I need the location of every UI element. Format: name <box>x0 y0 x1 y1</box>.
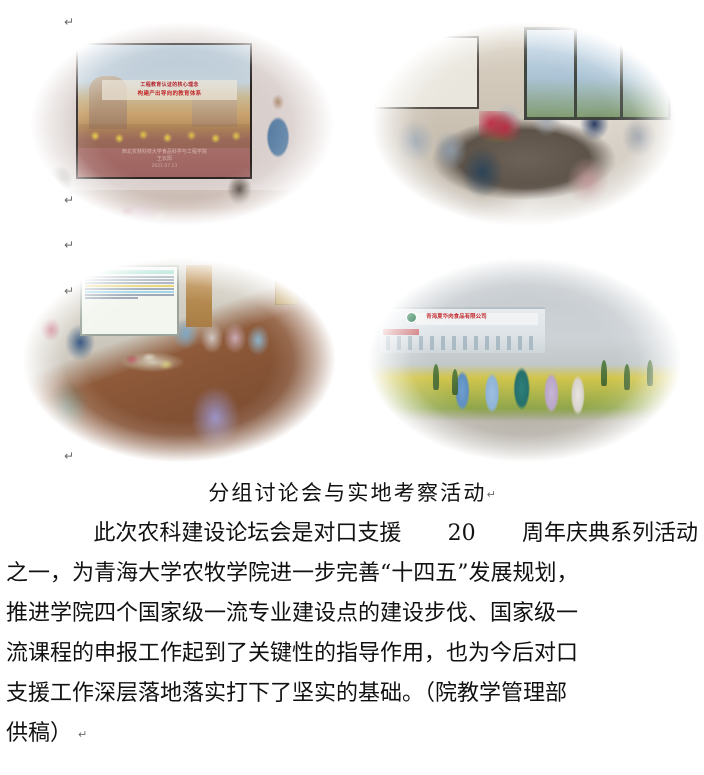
body-paragraph: 此次农科建设论坛会是对口支援20周年庆典系列活动 之一，为青海大学农牧学院进一步… <box>6 514 698 755</box>
slide-flower-field <box>78 124 250 148</box>
slide-banner-line2: 构建产出导向的教育体系 <box>102 90 236 98</box>
factory-windows <box>386 336 538 349</box>
slide-text-line <box>85 279 174 280</box>
first-line-indent <box>6 514 50 554</box>
body-line-6: 供稿）↵ <box>6 714 698 755</box>
projector-slide: 工程教育认证的核心理念 构建产出导向的教育体系 西北农林科技大学食品科学与工程学… <box>78 45 250 177</box>
slide-credit-date: 2021.07.13 <box>78 163 250 170</box>
slide-banner: 工程教育认证的核心理念 构建产出导向的教育体系 <box>102 80 236 100</box>
figure-caption-text: 分组讨论会与实地考察活动 <box>208 481 486 505</box>
figure-caption: 分组讨论会与实地考察活动↵ <box>0 478 704 510</box>
document-page: ↵ ↵ ↵ ↵ ↵ 工程教育认证的核心理念 构建产出导向的教育体系 <box>0 0 704 775</box>
factory-sign-text: 青海夏华肉食品有限公司 <box>416 313 538 325</box>
photo-presentation[interactable]: 工程教育认证的核心理念 构建产出导向的教育体系 西北农林科技大学食品科学与工程学… <box>22 14 342 234</box>
meeting-slide <box>80 265 179 335</box>
tree <box>601 360 607 386</box>
body-line-4: 流课程的申报工作起到了关键性的指导作用，也为今后对口 <box>6 634 698 674</box>
slide-banner-line1: 工程教育认证的核心理念 <box>102 82 236 89</box>
slide-text-line <box>85 276 174 277</box>
door <box>186 265 212 327</box>
table-flowers <box>479 111 521 142</box>
slide-credit-speaker: 王云阳 <box>78 156 250 163</box>
slide-text-line-highlight <box>85 291 174 292</box>
photo-presentation-image: 工程教育认证的核心理念 构建产出导向的教育体系 西北农林科技大学食品科学与工程学… <box>22 14 342 234</box>
paragraph-mark: ↵ <box>487 488 496 501</box>
wall-picture-frame <box>275 279 298 305</box>
photo-field-image: 青海夏华肉食品有限公司 <box>360 250 690 470</box>
slide-text-line <box>85 288 174 289</box>
paragraph-mark: ↵ <box>72 728 87 741</box>
tree <box>647 360 653 386</box>
body-line-1-suffix: 周年庆典系列活动 <box>522 514 698 554</box>
whiteboard <box>374 36 480 109</box>
photo-meeting-image <box>14 250 344 470</box>
window <box>524 27 671 119</box>
photo-grid: ↵ ↵ ↵ ↵ ↵ 工程教育认证的核心理念 构建产出导向的教育体系 <box>0 0 704 470</box>
slide-credit: 西北农林科技大学食品科学与工程学院 王云阳 2021.07.13 <box>78 149 250 170</box>
slide-text-line <box>85 297 138 298</box>
body-line-5: 支援工作深层落地落实打下了坚实的基础。（院教学管理部 <box>6 674 698 714</box>
body-line-3: 推进学院四个国家级一流专业建设点的建设步伐、国家级一 <box>6 594 698 634</box>
tree <box>433 364 439 390</box>
photo-field[interactable]: 青海夏华肉食品有限公司 <box>360 250 690 470</box>
slide-text-line <box>85 294 174 295</box>
photo-meeting[interactable] <box>14 250 344 470</box>
slide-text-line-highlight <box>85 285 174 286</box>
slide-text-line <box>85 282 174 283</box>
tree <box>452 369 458 395</box>
body-line-6-text: 供稿） <box>6 721 72 746</box>
slide-title-bar <box>85 270 174 274</box>
photo-discussion-image <box>364 14 684 234</box>
body-line-1: 此次农科建设论坛会是对口支援20周年庆典系列活动 <box>6 514 698 554</box>
tree <box>624 364 630 390</box>
body-line-2: 之一，为青海大学农牧学院进一步完善“十四五”发展规划， <box>6 554 698 594</box>
factory-red-banner <box>383 329 419 335</box>
anniversary-number: 20 <box>445 514 479 554</box>
factory-building: 青海夏华肉食品有限公司 <box>380 307 545 353</box>
projector-screen: 工程教育认证的核心理念 构建产出导向的教育体系 西北农林科技大学食品科学与工程学… <box>76 43 252 179</box>
photo-discussion[interactable] <box>364 14 684 234</box>
body-line-1-prefix: 此次农科建设论坛会是对口支援 <box>93 514 401 554</box>
